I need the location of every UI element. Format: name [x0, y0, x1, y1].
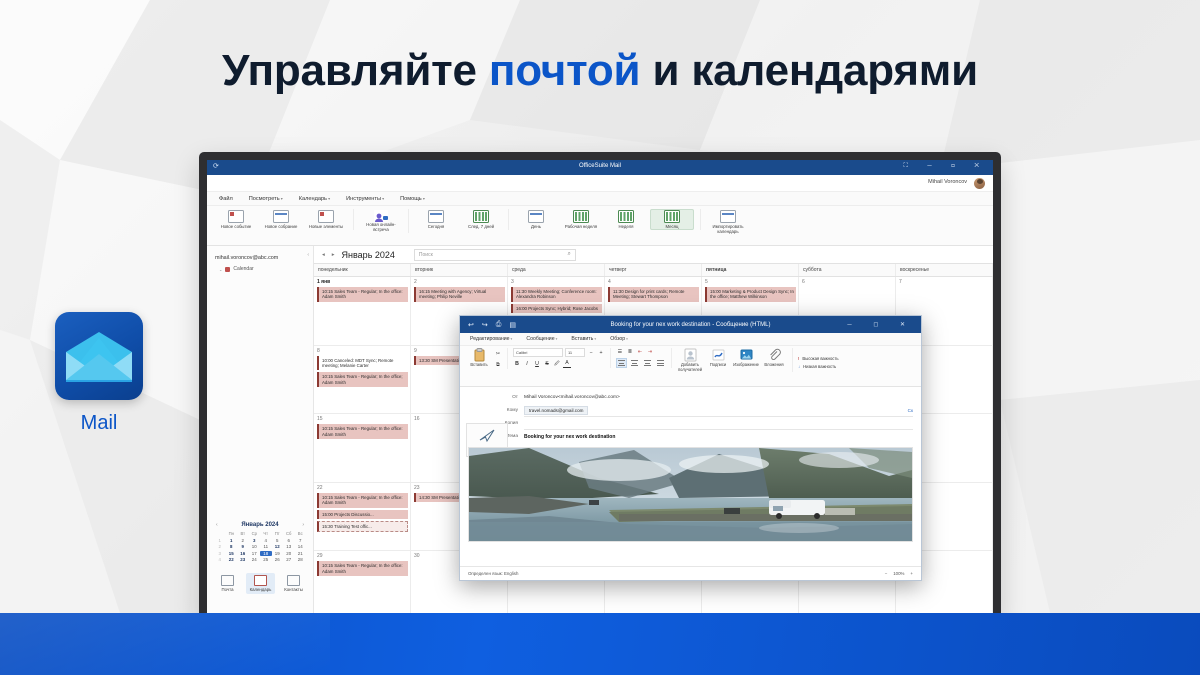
day-number: 6: [802, 279, 893, 285]
image-icon: [740, 348, 753, 362]
sidebar: ‹ mihail.voroncov@abc.com ⌄ Calendar ‹ Я…: [207, 246, 314, 618]
mini-cal-day[interactable]: 28: [295, 557, 307, 562]
avatar[interactable]: [974, 178, 985, 189]
priority-group: !Высокая важность ↓Низкая важность: [798, 348, 844, 369]
ribbon-week-view[interactable]: Неделя: [605, 209, 647, 230]
mini-cal-day[interactable]: 9: [237, 544, 249, 549]
justify-button[interactable]: [655, 358, 666, 368]
calendar-event[interactable]: 15:30 Training Test offic...: [317, 521, 408, 532]
compose-titlebar: ↩ ↪ ⎙ ▤ Booking for your nex work destin…: [460, 316, 921, 333]
detected-language: Определен язык: English: [468, 571, 518, 576]
ribbon-toolbar: Новое событие Новое собрание Новые элеме…: [207, 206, 993, 246]
day-number: 5: [705, 279, 796, 285]
low-priority-icon: ↓: [798, 364, 800, 369]
signature-button[interactable]: Подписи: [705, 348, 731, 368]
mini-cal-day[interactable]: 4: [260, 538, 272, 543]
workweek-view-icon: [573, 210, 589, 223]
mini-cal-day[interactable]: 26: [272, 557, 284, 562]
sidebar-calendar-label: Calendar: [233, 266, 253, 272]
day-number: 29: [317, 553, 408, 559]
clipboard-group: Вставить ✂ ⧉: [466, 348, 508, 369]
compose-window-controls[interactable]: ─ ◻ ✕: [847, 321, 915, 328]
calendar-event[interactable]: 10:15 Sales Team - Regular; In the offic…: [317, 372, 408, 387]
day-number: 22: [317, 485, 408, 491]
ribbon-month-view[interactable]: Месяц: [650, 209, 694, 230]
mail-app-tile[interactable]: Mail: [55, 312, 143, 435]
mini-cal-week-num: 1: [214, 538, 226, 543]
subject-input[interactable]: Booking for your nex work destination: [524, 434, 913, 440]
to-recipient-chip[interactable]: travel.nomads@gmail.com: [524, 406, 588, 415]
bottom-blue-strip: [0, 613, 1200, 675]
calendar-color-checkbox[interactable]: [225, 267, 230, 272]
paragraph-group: ☰ ≣ ⇤ ⇥: [616, 348, 672, 368]
calendar-event[interactable]: 11:30 Design for print cards; Remote Mee…: [608, 287, 699, 302]
headline-before: Управляйте: [222, 46, 489, 95]
mini-cal-week-num: 3: [214, 551, 226, 556]
high-priority-icon: !: [798, 356, 799, 361]
contacts-nav-icon: [287, 575, 300, 586]
mini-cal-dow: Вс: [295, 531, 307, 536]
ribbon-group-online: Новая онлайн-встреча: [360, 209, 409, 233]
numbered-list-icon[interactable]: ≣: [626, 348, 634, 356]
user-name: Mihail Voroncov: [928, 179, 967, 185]
dow-monday: понедельник: [314, 264, 411, 276]
mini-cal-week-num: 4: [214, 557, 226, 562]
day-number: 7: [899, 279, 990, 285]
insert-group: Добавить получателей Подписи Изображение…: [677, 348, 793, 372]
compose-menubar: Редактирование Сообщение Вставить Обзор: [460, 333, 921, 346]
new-event-icon: [228, 210, 244, 223]
ribbon-label: Новая онлайн-встреча: [360, 222, 402, 232]
ribbon-group-new: Новое событие Новое собрание Новые элеме…: [215, 209, 354, 230]
user-bar: Mihail Voroncov: [207, 175, 993, 192]
copy-icon[interactable]: ⧉: [494, 361, 502, 369]
calendar-event[interactable]: 16:15 Meeting with Agency; Virtual meeti…: [414, 287, 505, 302]
add-recipients-button[interactable]: Добавить получателей: [677, 348, 703, 372]
ribbon-new-meeting[interactable]: Новое собрание: [260, 209, 302, 230]
account-email: mihail.voroncov@abc.com: [207, 246, 313, 261]
nav-label: Календарь: [246, 587, 275, 592]
sidebar-nav: Почта Календарь Контакты: [213, 573, 308, 594]
increase-font-icon[interactable]: +: [597, 349, 605, 357]
day-number: 4: [608, 279, 699, 285]
calendar-day-cell[interactable]: 1510:15 Sales Team - Regular; In the off…: [314, 414, 411, 482]
mini-cal-day[interactable]: 1: [226, 538, 238, 543]
day-view-icon: [528, 210, 544, 223]
sidebar-item-contacts[interactable]: Контакты: [279, 573, 308, 594]
page-title: Управляйте почтой и календарями: [0, 46, 1200, 96]
ribbon-label: Месяц: [651, 224, 693, 229]
menu-item-calendar[interactable]: Календарь: [299, 196, 330, 202]
calendar-event[interactable]: 10:15 Sales Team - Regular; In the offic…: [317, 424, 408, 439]
menubar: Файл Посмотреть Календарь Инструменты По…: [207, 192, 993, 206]
underline-button[interactable]: U: [533, 360, 541, 368]
calendar-day-cell[interactable]: 2210:15 Sales Team - Regular; In the off…: [314, 483, 411, 551]
calendar-event[interactable]: 10:15 Sales Team - Regular; In the offic…: [317, 561, 408, 576]
mini-cal-day[interactable]: 3: [249, 538, 261, 543]
ribbon-label: Сегодня: [415, 224, 457, 229]
attach-label: Вложения: [761, 363, 787, 368]
to-label: Кому: [460, 408, 524, 413]
compose-menu-review[interactable]: Обзор: [610, 336, 628, 342]
mini-cal-day[interactable]: 8: [226, 544, 238, 549]
new-items-icon: [318, 210, 334, 223]
ribbon-group-import: Импортировать календарь: [707, 209, 755, 235]
mail-envelope-icon: [55, 312, 143, 400]
calendar-dow-header: понедельник вторник среда четверг пятниц…: [314, 263, 993, 277]
high-priority-button[interactable]: !Высокая важность: [798, 356, 839, 361]
signature-icon: [712, 348, 725, 362]
sidebar-item-mail[interactable]: Почта: [213, 573, 242, 594]
mini-cal-day[interactable]: 17: [249, 551, 261, 556]
calendar-day-cell[interactable]: 1 янв10:15 Sales Team - Regular; In the …: [314, 277, 411, 345]
mini-cal-day[interactable]: 15: [226, 551, 238, 556]
window-title: OfficeSuite Mail: [207, 163, 993, 169]
mini-calendar-title: Январь 2024: [241, 522, 278, 528]
ribbon-label: Новое событие: [215, 224, 257, 229]
mini-cal-day[interactable]: 20: [283, 551, 295, 556]
image-label: Изображение: [733, 363, 759, 368]
calendar-month-title: Январь 2024: [342, 250, 395, 260]
calendar-day-cell[interactable]: 2910:15 Sales Team - Regular; In the off…: [314, 551, 411, 618]
chevron-right-icon[interactable]: ▸: [332, 252, 335, 258]
dow-sunday: воскресенье: [896, 264, 993, 276]
calendar-day-cell[interactable]: 810:00 Canceled: MDT Sync; Remote meetin…: [314, 346, 411, 414]
compose-menu-insert[interactable]: Вставить: [571, 336, 596, 342]
clipboard-icon: [473, 348, 486, 362]
search-input[interactable]: Поиск ⌕: [414, 249, 576, 261]
align-center-button[interactable]: [629, 358, 640, 368]
mini-cal-dow: Пт: [272, 531, 284, 536]
calendar-event[interactable]: 15:00 Projects Discussio...: [317, 510, 408, 519]
mini-cal-next-icon[interactable]: ›: [302, 522, 304, 528]
ribbon-new-event[interactable]: Новое событие: [215, 209, 257, 230]
ribbon-label: Импортировать календарь: [707, 224, 749, 234]
scissors-icon[interactable]: ✂: [494, 350, 502, 358]
high-priority-label: Высокая важность: [802, 356, 838, 361]
ribbon-label: Новые элементы: [305, 224, 347, 229]
mini-calendar: ‹ Январь 2024 › Пн Вт Ср Чт Пт Сб Вс 1: [214, 522, 306, 562]
headline-highlight: почтой: [489, 46, 641, 95]
font-size-select[interactable]: 11: [565, 348, 585, 357]
mini-cal-day[interactable]: 21: [295, 551, 307, 556]
mini-cal-day[interactable]: 25: [260, 557, 272, 562]
calendar-event[interactable]: 10:15 Sales Team - Regular; In the offic…: [317, 493, 408, 508]
bullet-list-icon[interactable]: ☰: [616, 348, 624, 356]
ribbon-label: Неделя: [605, 224, 647, 229]
calendar-event[interactable]: 15:00 Marketing & Product Design Sync; I…: [705, 287, 796, 302]
message-body-image[interactable]: [468, 447, 913, 542]
day-number: 1 янв: [317, 279, 408, 285]
mini-cal-day[interactable]: 11: [260, 544, 272, 549]
compose-statusbar: Определен язык: English − 100% +: [460, 566, 921, 580]
calendar-toolbar: ◂ ▸ Январь 2024 Поиск ⌕: [314, 246, 993, 263]
ribbon-label: Рабочая неделя: [560, 224, 602, 229]
font-family-select[interactable]: Calibri: [513, 348, 563, 357]
import-calendar-icon: [720, 210, 736, 223]
search-icon: ⌕: [568, 251, 571, 258]
signature-label: Подписи: [705, 363, 731, 368]
font-group: Calibri 11 − + B I U S 🖉 A: [513, 348, 611, 368]
compose-ribbon: Вставить ✂ ⧉ Calibri 11 − + B: [460, 346, 921, 387]
day-number: 15: [317, 416, 408, 422]
calendar-event[interactable]: 10:15 Sales Team - Regular; In the offic…: [317, 287, 408, 302]
image-button[interactable]: Изображение: [733, 348, 759, 368]
menu-item-tools[interactable]: Инструменты: [346, 196, 384, 202]
nav-label: Почта: [213, 587, 242, 592]
ribbon-label: След. 7 дней: [460, 224, 502, 229]
subject-row[interactable]: Тема Booking for your nex work destinati…: [460, 430, 921, 443]
nav-label: Контакты: [279, 587, 308, 592]
send-paperplane-icon: [478, 428, 496, 443]
mini-calendar-header: ‹ Январь 2024 ›: [214, 522, 306, 531]
italic-button[interactable]: I: [523, 360, 531, 368]
compose-message-window: ↩ ↪ ⎙ ▤ Booking for your nex work destin…: [459, 315, 922, 581]
mini-cal-day[interactable]: 5: [272, 538, 284, 543]
mini-cal-dow: Вт: [237, 531, 249, 536]
headline-after: и календарями: [640, 46, 978, 95]
compose-menu-edit[interactable]: Редактирование: [470, 336, 512, 342]
align-right-button[interactable]: [642, 358, 653, 368]
paste-button[interactable]: Вставить: [466, 348, 492, 368]
mini-cal-prev-icon[interactable]: ‹: [216, 522, 218, 528]
online-meeting-icon: [374, 210, 388, 221]
from-value: Mihail Voroncov<mihail.voroncov@abc.com>: [524, 395, 913, 400]
bcc-toggle-link[interactable]: Ск: [908, 408, 913, 413]
outdent-icon[interactable]: ⇤: [636, 348, 644, 356]
cc-row[interactable]: Копия: [460, 417, 921, 430]
font-color-icon[interactable]: A: [563, 359, 571, 368]
window-controls[interactable]: ⛶ ─ ◻ ✕: [903, 163, 988, 170]
ribbon-workweek-view[interactable]: Рабочая неделя: [560, 209, 602, 230]
mini-cal-dow: Пн: [226, 531, 238, 536]
menu-item-file[interactable]: Файл: [219, 196, 233, 202]
compose-fields: От Mihail Voroncov<mihail.voroncov@abc.c…: [460, 387, 921, 443]
mini-cal-day[interactable]: 16: [237, 551, 249, 556]
next7days-icon: [473, 210, 489, 223]
paste-label: Вставить: [466, 363, 492, 368]
bold-button[interactable]: B: [513, 360, 521, 368]
from-label: От: [460, 395, 524, 400]
mini-cal-day[interactable]: 2: [237, 538, 249, 543]
cc-input[interactable]: [524, 418, 913, 430]
mini-cal-day[interactable]: 7: [295, 538, 307, 543]
mini-cal-dow: Ср: [249, 531, 261, 536]
mini-cal-day[interactable]: 13: [283, 544, 295, 549]
mail-nav-icon: [221, 575, 234, 586]
ribbon-day-view[interactable]: День: [515, 209, 557, 230]
today-icon: [428, 210, 444, 223]
fjord-landscape-icon: [469, 448, 912, 541]
dow-wednesday: среда: [508, 264, 605, 276]
mini-cal-day[interactable]: 12: [272, 544, 284, 549]
dow-friday: пятница: [702, 264, 799, 276]
mini-cal-day[interactable]: 6: [283, 538, 295, 543]
week-view-icon: [618, 210, 634, 223]
sidebar-item-calendar-nav[interactable]: Календарь: [246, 573, 275, 594]
menu-item-view[interactable]: Посмотреть: [249, 196, 283, 202]
ribbon-group-goto: Сегодня След. 7 дней: [415, 209, 509, 230]
mini-cal-week-num: 2: [214, 544, 226, 549]
ribbon-online-meeting[interactable]: Новая онлайн-встреча: [360, 209, 402, 233]
ribbon-group-views: День Рабочая неделя Неделя Месяц: [515, 209, 701, 230]
compose-zoom-out[interactable]: −: [885, 571, 888, 576]
from-row: От Mihail Voroncov<mihail.voroncov@abc.c…: [460, 391, 921, 404]
mini-calendar-grid[interactable]: Пн Вт Ср Чт Пт Сб Вс 1 1 2 3 4 5 6: [214, 531, 306, 562]
mini-cal-day[interactable]: 22: [226, 557, 238, 562]
mini-cal-day-today[interactable]: 18: [260, 551, 272, 556]
low-priority-label: Низкая важность: [803, 364, 836, 369]
dow-saturday: суббота: [799, 264, 896, 276]
ribbon-import-calendar[interactable]: Импортировать календарь: [707, 209, 749, 235]
mini-cal-day[interactable]: 19: [272, 551, 284, 556]
add-recipient-icon: [684, 348, 697, 362]
day-number: 3: [511, 279, 602, 285]
ribbon-label: День: [515, 224, 557, 229]
mini-cal-wkcol: [214, 531, 226, 536]
low-priority-button[interactable]: ↓Низкая важность: [798, 364, 839, 369]
mini-cal-day[interactable]: 24: [249, 557, 261, 562]
add-recipients-label: Добавить получателей: [677, 363, 703, 372]
search-placeholder: Поиск: [419, 252, 433, 258]
decrease-font-icon[interactable]: −: [587, 349, 595, 357]
mini-cal-dow: Чт: [260, 531, 272, 536]
day-number: 8: [317, 348, 408, 354]
compose-menu-message[interactable]: Сообщение: [526, 336, 557, 342]
indent-icon[interactable]: ⇥: [646, 348, 654, 356]
mail-app-label: Mail: [55, 412, 143, 435]
ribbon-label: Новое собрание: [260, 224, 302, 229]
strikethrough-button[interactable]: S: [543, 360, 551, 368]
paperclip-icon: [768, 348, 781, 362]
calendar-nav-icon: [254, 575, 267, 586]
ribbon-new-items[interactable]: Новые элементы: [305, 209, 347, 230]
to-row[interactable]: Кому travel.nomads@gmail.com Ск: [460, 404, 921, 417]
calendar-event[interactable]: 10:00 Canceled: MDT Sync; Remote meeting…: [317, 356, 408, 371]
new-meeting-icon: [273, 210, 289, 223]
ribbon-next7days[interactable]: След. 7 дней: [460, 209, 502, 230]
chevron-left-icon[interactable]: ◂: [322, 252, 325, 258]
compose-zoom-in[interactable]: +: [910, 571, 913, 576]
slide: Управляйте почтой и календарями Mail ⟳ O…: [0, 0, 1200, 675]
window-titlebar: ⟳ OfficeSuite Mail ⛶ ─ ◻ ✕: [207, 160, 993, 175]
compose-zoom-level: 100%: [893, 571, 904, 576]
calendar-event[interactable]: 11:30 Weekly Meeting; Conference room: A…: [511, 287, 602, 302]
chevron-down-icon: ⌄: [219, 267, 222, 272]
sidebar-item-calendar[interactable]: ⌄ Calendar: [207, 261, 313, 272]
ribbon-today[interactable]: Сегодня: [415, 209, 457, 230]
collapse-sidebar-icon[interactable]: ‹: [307, 252, 309, 258]
day-number: 2: [414, 279, 505, 285]
menu-item-help[interactable]: Помощь: [400, 196, 425, 202]
mini-cal-day[interactable]: 23: [237, 557, 249, 562]
mini-cal-day[interactable]: 27: [283, 557, 295, 562]
align-left-button[interactable]: [616, 358, 627, 368]
dow-tuesday: вторник: [411, 264, 508, 276]
month-view-icon: [664, 210, 680, 223]
highlight-icon[interactable]: 🖉: [553, 360, 561, 368]
calendar-event[interactable]: 16:00 Projects Sync; Hybrid; Rose Jacobs: [511, 304, 602, 313]
mini-cal-dow: Сб: [283, 531, 295, 536]
attach-button[interactable]: Вложения: [761, 348, 787, 368]
mini-cal-day[interactable]: 14: [295, 544, 307, 549]
mini-cal-day[interactable]: 10: [249, 544, 261, 549]
dow-thursday: четверг: [605, 264, 702, 276]
